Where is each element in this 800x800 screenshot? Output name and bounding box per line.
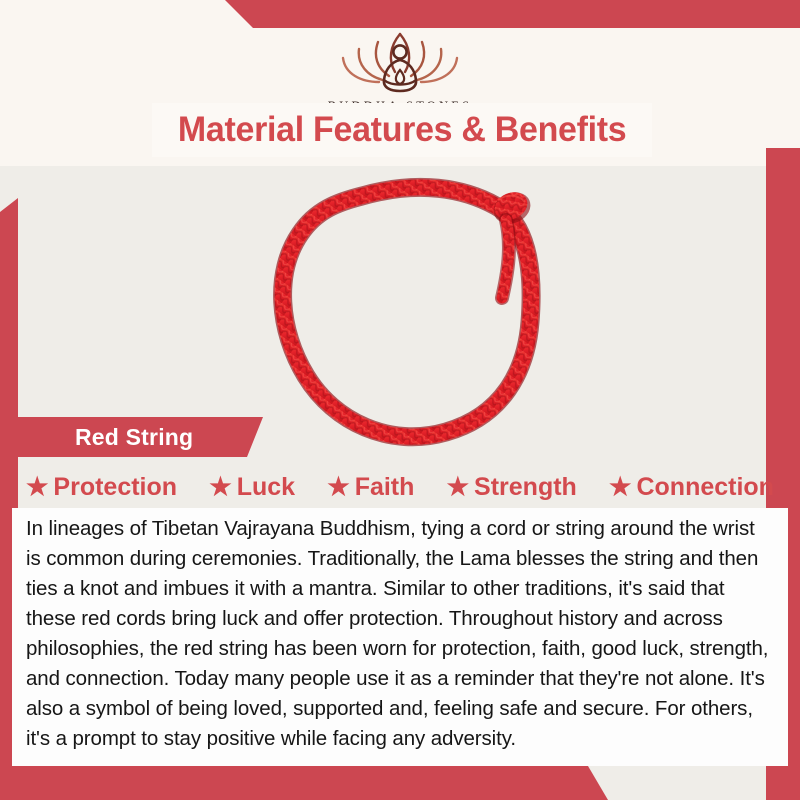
- benefit-label: Connection: [636, 473, 774, 502]
- lotus-meditation-icon: [315, 24, 485, 96]
- description-paragraph: In lineages of Tibetan Vajrayana Buddhis…: [12, 508, 788, 754]
- star-icon: ★: [26, 475, 48, 500]
- benefit-label: Protection: [53, 473, 177, 502]
- brand-logo: BUDDHA STONES: [0, 24, 800, 114]
- description-block: In lineages of Tibetan Vajrayana Buddhis…: [12, 508, 788, 766]
- material-label-text: Red String: [75, 424, 193, 451]
- benefit-item-strength: ★Strength: [447, 473, 577, 502]
- star-icon: ★: [327, 475, 349, 500]
- infographic-page: BUDDHA STONES Material Features & Benefi…: [0, 0, 800, 800]
- benefit-label: Strength: [474, 473, 577, 502]
- material-label-banner: Red String: [18, 417, 263, 457]
- benefit-item-connection: ★Connection: [609, 473, 774, 502]
- benefit-label: Faith: [355, 473, 415, 502]
- benefit-item-luck: ★Luck: [209, 473, 295, 502]
- star-icon: ★: [609, 475, 631, 500]
- benefit-label: Luck: [237, 473, 295, 502]
- page-title: Material Features & Benefits: [178, 110, 626, 150]
- product-image-red-string-bracelet: [250, 160, 590, 460]
- benefit-item-protection: ★Protection: [26, 473, 177, 502]
- star-icon: ★: [447, 475, 469, 500]
- benefits-row: ★Protection★Luck★Faith★Strength★Connecti…: [26, 466, 774, 508]
- title-banner: Material Features & Benefits: [152, 103, 652, 157]
- benefit-item-faith: ★Faith: [327, 473, 414, 502]
- star-icon: ★: [209, 475, 231, 500]
